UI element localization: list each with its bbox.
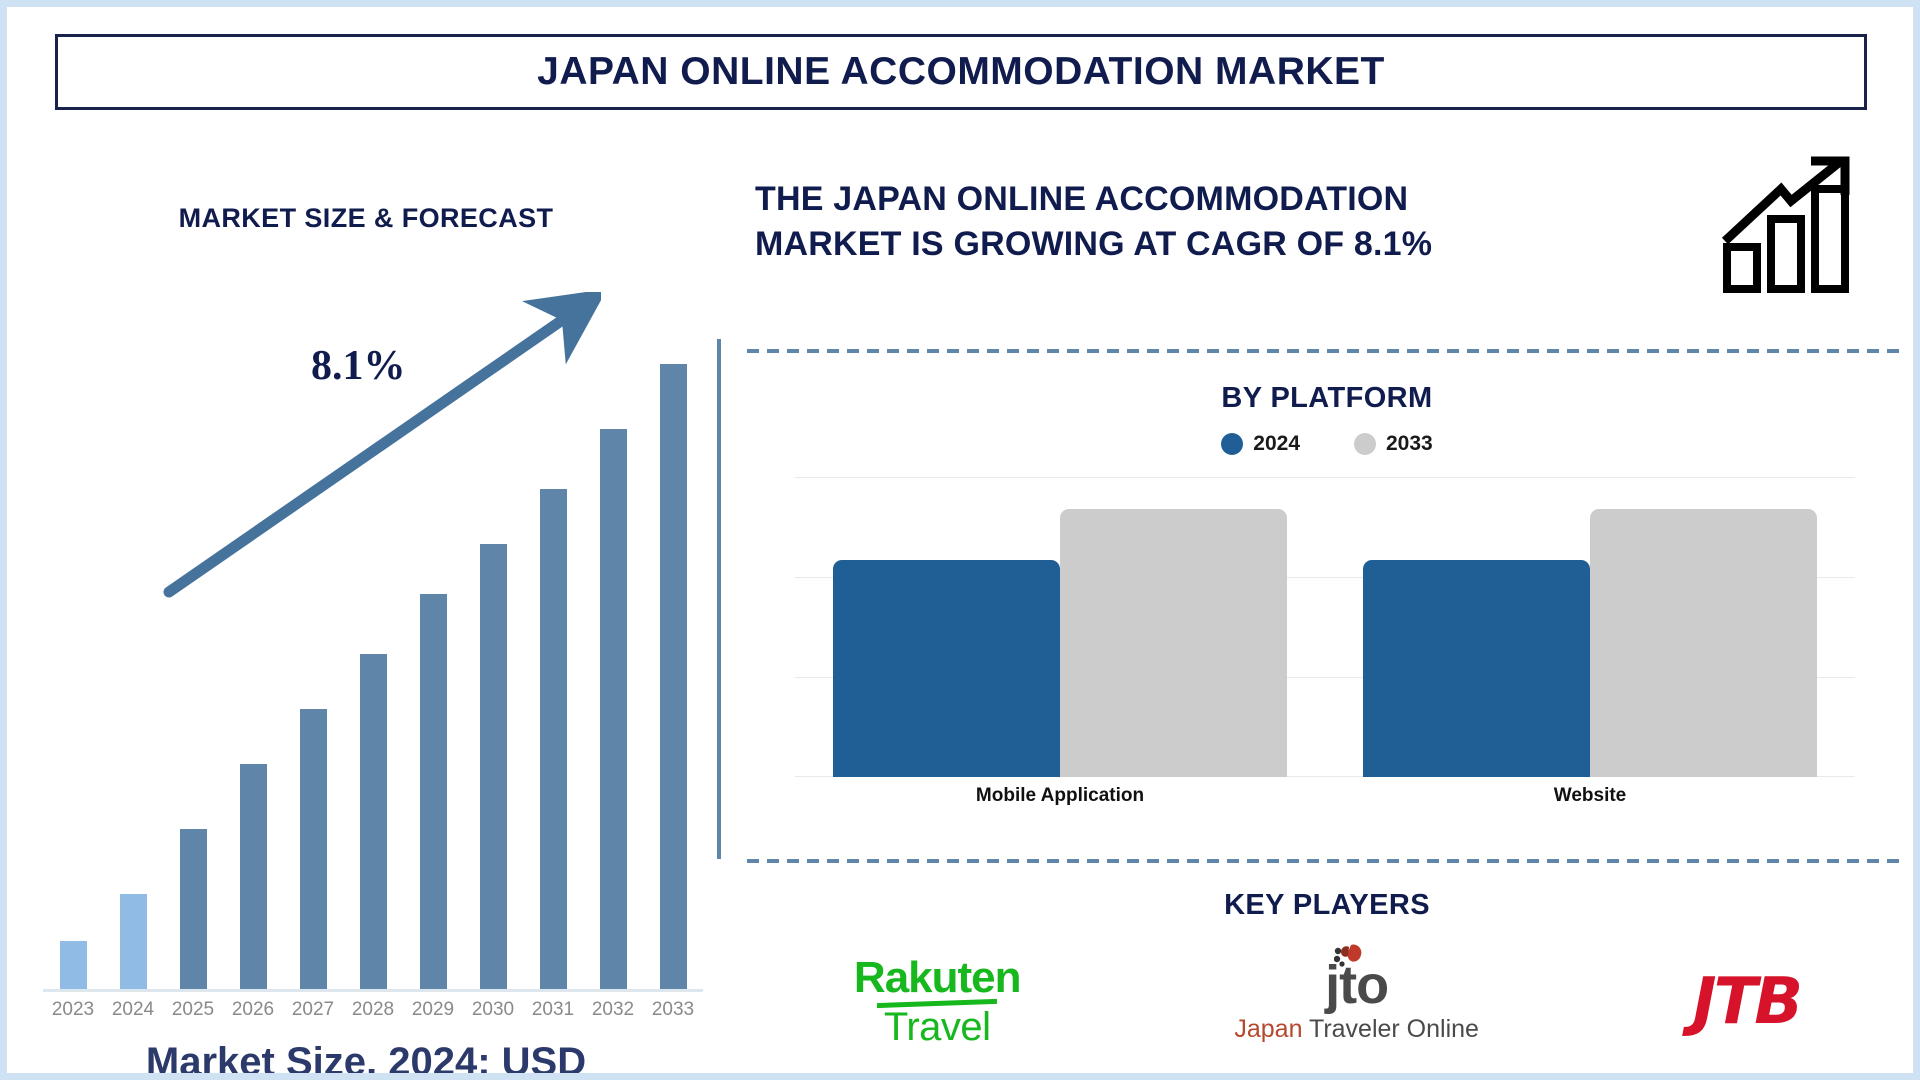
market-size-bar-slot — [583, 339, 643, 989]
platform-bar-2033 — [1590, 509, 1817, 777]
page-title-box: JAPAN ONLINE ACCOMMODATION MARKET — [55, 34, 1867, 110]
legend-item-2024[interactable]: 2024 — [1221, 432, 1300, 456]
market-size-bar — [240, 764, 267, 989]
logo-jtb[interactable]: JTB — [1693, 965, 1800, 1039]
market-size-bar-chart — [43, 332, 703, 992]
market-size-bars — [43, 339, 703, 989]
market-size-forecast-panel: MARKET SIZE & FORECAST 8.1% 202320242025… — [21, 137, 711, 1067]
logo-rakuten-travel[interactable]: Rakuten Travel — [854, 956, 1021, 1048]
year-label: 2029 — [403, 999, 463, 1021]
platform-bar-2033 — [1060, 509, 1287, 777]
by-platform-legend: 20242033 — [747, 432, 1907, 456]
year-label: 2030 — [463, 999, 523, 1021]
market-size-bar — [480, 544, 507, 989]
year-label: 2024 — [103, 999, 163, 1021]
vertical-divider — [717, 339, 721, 859]
platform-category-label: Mobile Application — [795, 785, 1325, 807]
by-platform-chart — [795, 477, 1855, 777]
x-axis-line — [43, 989, 703, 992]
rakuten-wordmark-line-2: Travel — [884, 1006, 991, 1048]
cagr-headline-line-2: MARKET IS GROWING AT CAGR OF 8.1% — [755, 225, 1432, 263]
jto-tagline-japan: Japan — [1234, 1015, 1302, 1043]
legend-label: 2033 — [1386, 432, 1433, 456]
key-players-logos: Rakuten Travel jto Japan Traveler — [747, 937, 1907, 1067]
jto-flower-icon — [1334, 944, 1364, 970]
legend-label: 2024 — [1253, 432, 1300, 456]
divider-top — [747, 349, 1907, 353]
market-size-bar — [120, 894, 147, 989]
market-size-bar — [600, 429, 627, 989]
platform-bar-2024 — [833, 560, 1060, 777]
jto-tagline-traveler-online: Traveler Online — [1302, 1015, 1478, 1043]
market-size-bar-slot — [643, 339, 703, 989]
jto-mark: jto — [1325, 960, 1388, 1011]
market-size-bar-slot — [283, 339, 343, 989]
market-size-bar — [360, 654, 387, 989]
by-platform-title: BY PLATFORM — [747, 382, 1907, 415]
year-label: 2031 — [523, 999, 583, 1021]
page-title: JAPAN ONLINE ACCOMMODATION MARKET — [537, 50, 1385, 94]
year-label: 2033 — [643, 999, 703, 1021]
logo-japan-traveler-online[interactable]: jto Japan Traveler Online — [1234, 960, 1479, 1044]
legend-item-2033[interactable]: 2033 — [1354, 432, 1433, 456]
market-size-bar — [300, 709, 327, 989]
market-size-value: Market Size, 2024: USD ~2,923.1 Million — [21, 1037, 711, 1080]
platform-category-label: Website — [1325, 785, 1855, 807]
year-label: 2026 — [223, 999, 283, 1021]
legend-dot-icon — [1354, 433, 1376, 455]
cagr-headline: THE JAPAN ONLINE ACCOMMODATION MARKET IS… — [755, 177, 1675, 267]
market-size-bar-slot — [403, 339, 463, 989]
year-label: 2025 — [163, 999, 223, 1021]
market-size-bar-slot — [523, 339, 583, 989]
key-players-title: KEY PLAYERS — [747, 889, 1907, 922]
rakuten-wordmark-line-1: Rakuten — [854, 956, 1021, 1000]
market-size-bar — [60, 941, 87, 989]
year-label: 2032 — [583, 999, 643, 1021]
market-size-bar — [660, 364, 687, 989]
by-platform-category-labels: Mobile ApplicationWebsite — [795, 785, 1855, 807]
market-size-bar-slot — [43, 339, 103, 989]
market-size-forecast-heading: MARKET SIZE & FORECAST — [21, 203, 711, 234]
right-panel: THE JAPAN ONLINE ACCOMMODATION MARKET IS… — [747, 137, 1907, 1067]
jto-tagline: Japan Traveler Online — [1234, 1015, 1479, 1044]
market-size-bar — [420, 594, 447, 989]
market-size-bar-slot — [223, 339, 283, 989]
market-size-bar — [540, 489, 567, 989]
market-size-year-labels: 2023202420252026202720282029203020312032… — [43, 999, 703, 1021]
market-size-bar — [180, 829, 207, 989]
year-label: 2023 — [43, 999, 103, 1021]
platform-group-0 — [795, 477, 1325, 777]
divider-bottom — [747, 859, 1907, 863]
infographic-page: JAPAN ONLINE ACCOMMODATION MARKET MARKET… — [0, 0, 1920, 1080]
year-label: 2028 — [343, 999, 403, 1021]
legend-dot-icon — [1221, 433, 1243, 455]
market-size-bar-slot — [103, 339, 163, 989]
platform-group-1 — [1325, 477, 1855, 777]
market-size-bar-slot — [163, 339, 223, 989]
jtb-wordmark: JTB — [1693, 965, 1800, 1039]
market-size-bar-slot — [463, 339, 523, 989]
platform-bar-2024 — [1363, 560, 1590, 777]
by-platform-bars — [795, 477, 1855, 777]
year-label: 2027 — [283, 999, 343, 1021]
bar-chart-growth-icon — [1719, 155, 1859, 295]
market-size-line-1: Market Size, 2024: USD — [146, 1040, 586, 1080]
market-size-bar-slot — [343, 339, 403, 989]
cagr-headline-line-1: THE JAPAN ONLINE ACCOMMODATION — [755, 180, 1408, 218]
